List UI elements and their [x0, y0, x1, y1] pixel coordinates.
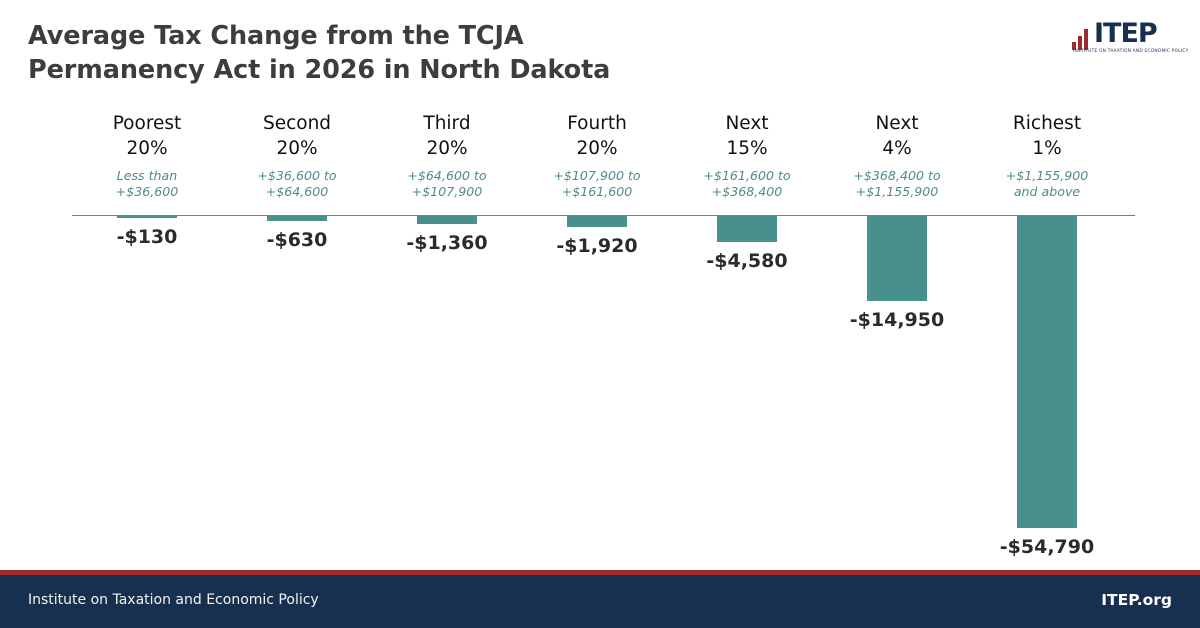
column-header: Next 15%	[672, 112, 822, 161]
bar[interactable]	[267, 216, 327, 221]
footer-organization-name: Institute on Taxation and Economic Polic…	[28, 592, 319, 608]
page-title: Average Tax Change from the TCJA Permane…	[28, 20, 928, 87]
column-income-range: +$1,155,900 and above	[972, 168, 1122, 200]
chart-column: Fourth 20% +$107,900 to +$161,600 -$1,92…	[522, 100, 672, 570]
column-header: Second 20%	[222, 112, 372, 161]
bar[interactable]	[867, 216, 927, 301]
footer-website-link[interactable]: ITEP.org	[1101, 591, 1172, 609]
column-header: Poorest 20%	[72, 112, 222, 161]
column-header: Third 20%	[372, 112, 522, 161]
logo-wordmark: ITEP	[1094, 20, 1157, 47]
logo-bars-icon	[1072, 29, 1088, 50]
column-income-range: +$64,600 to +$107,900	[372, 168, 522, 200]
chart-column: Second 20% +$36,600 to +$64,600 -$630	[222, 100, 372, 570]
column-income-range: +$107,900 to +$161,600	[522, 168, 672, 200]
bar[interactable]	[567, 216, 627, 227]
chart-column: Third 20% +$64,600 to +$107,900 -$1,360	[372, 100, 522, 570]
column-income-range: Less than +$36,600	[72, 168, 222, 200]
column-header: Richest 1%	[972, 112, 1122, 161]
logo-tagline: INSTITUTE ON TAXATION AND ECONOMIC POLIC…	[1073, 49, 1188, 54]
bar-value-label: -$54,790	[947, 536, 1147, 558]
bar[interactable]	[717, 216, 777, 242]
bar[interactable]	[417, 216, 477, 224]
bar[interactable]	[117, 216, 177, 218]
bar-chart: Poorest 20% Less than +$36,600 -$130 Sec…	[0, 100, 1200, 570]
chart-column: Next 4% +$368,400 to +$1,155,900 -$14,95…	[822, 100, 972, 570]
column-income-range: +$36,600 to +$64,600	[222, 168, 372, 200]
column-header: Fourth 20%	[522, 112, 672, 161]
chart-column: Next 15% +$161,600 to +$368,400 -$4,580	[672, 100, 822, 570]
chart-header: Average Tax Change from the TCJA Permane…	[0, 0, 1200, 100]
column-income-range: +$368,400 to +$1,155,900	[822, 168, 972, 200]
itep-logo: ITEP INSTITUTE ON TAXATION AND ECONOMIC …	[1072, 20, 1182, 62]
bar-value-label: -$4,580	[647, 250, 847, 272]
bar[interactable]	[1017, 216, 1077, 528]
footer-accent-rule	[0, 570, 1200, 575]
chart-column: Poorest 20% Less than +$36,600 -$130	[72, 100, 222, 570]
column-income-range: +$161,600 to +$368,400	[672, 168, 822, 200]
column-header: Next 4%	[822, 112, 972, 161]
chart-column: Richest 1% +$1,155,900 and above -$54,79…	[972, 100, 1122, 570]
bar-value-label: -$14,950	[797, 309, 997, 331]
footer-bar: Institute on Taxation and Economic Polic…	[0, 570, 1200, 628]
